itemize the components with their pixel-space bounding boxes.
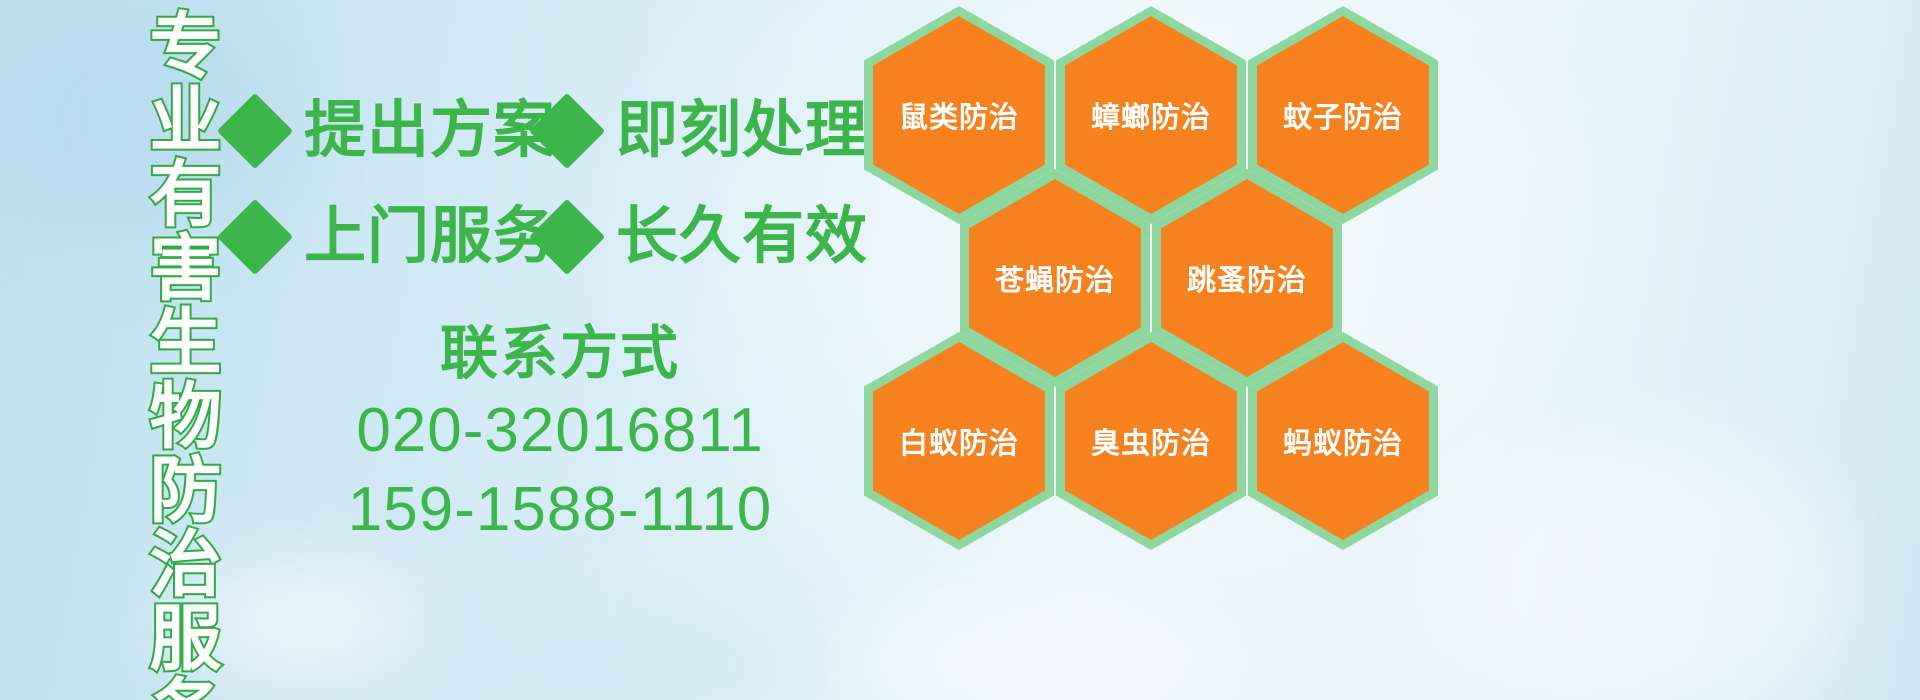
background-blur-blob xyxy=(400,600,820,700)
service-label: 苍蝇防治 xyxy=(995,257,1115,299)
service-label: 蟑螂防治 xyxy=(1091,94,1211,136)
service-honeycomb-grid: 鼠类防治 蟑螂防治 蚊子防治 苍蝇防治 跳蚤防治 白蚁防治 臭虫防治 xyxy=(856,0,1456,578)
contact-block: 联系方式 020-32016811 159-1588-1110 xyxy=(300,318,820,549)
diamond-icon xyxy=(217,199,293,275)
diamond-icon xyxy=(529,199,605,275)
feature-item: 长久有效 xyxy=(540,206,868,268)
vertical-headline: 专业有害生物防治服务 xyxy=(108,8,214,568)
diamond-icon xyxy=(217,93,293,169)
pest-control-service-banner: 专业有害生物防治服务 提出方案 即刻处理 上门服务 长久有效 联 xyxy=(0,0,1920,700)
diamond-icon xyxy=(529,93,605,169)
feature-label: 提出方案 xyxy=(304,100,556,162)
background-blur-blob xyxy=(1430,430,1850,700)
contact-phone-mobile[interactable]: 159-1588-1110 xyxy=(300,470,820,549)
contact-label: 联系方式 xyxy=(300,318,820,391)
feature-item: 即刻处理 xyxy=(540,100,868,162)
feature-item: 提出方案 xyxy=(228,100,540,162)
background-blur-blob xyxy=(850,590,1230,700)
feature-label: 长久有效 xyxy=(616,206,868,268)
service-label: 鼠类防治 xyxy=(899,94,1019,136)
service-label: 蚂蚁防治 xyxy=(1283,420,1403,462)
feature-row: 上门服务 长久有效 xyxy=(228,184,868,290)
feature-row: 提出方案 即刻处理 xyxy=(228,78,868,184)
contact-phone-landline[interactable]: 020-32016811 xyxy=(300,391,820,470)
feature-item: 上门服务 xyxy=(228,206,540,268)
service-label: 白蚁防治 xyxy=(899,420,1019,462)
service-label: 蚊子防治 xyxy=(1283,94,1403,136)
feature-label: 上门服务 xyxy=(304,206,556,268)
service-label: 臭虫防治 xyxy=(1091,420,1211,462)
service-label: 跳蚤防治 xyxy=(1187,257,1307,299)
feature-list: 提出方案 即刻处理 上门服务 长久有效 xyxy=(228,78,868,290)
feature-label: 即刻处理 xyxy=(616,100,868,162)
